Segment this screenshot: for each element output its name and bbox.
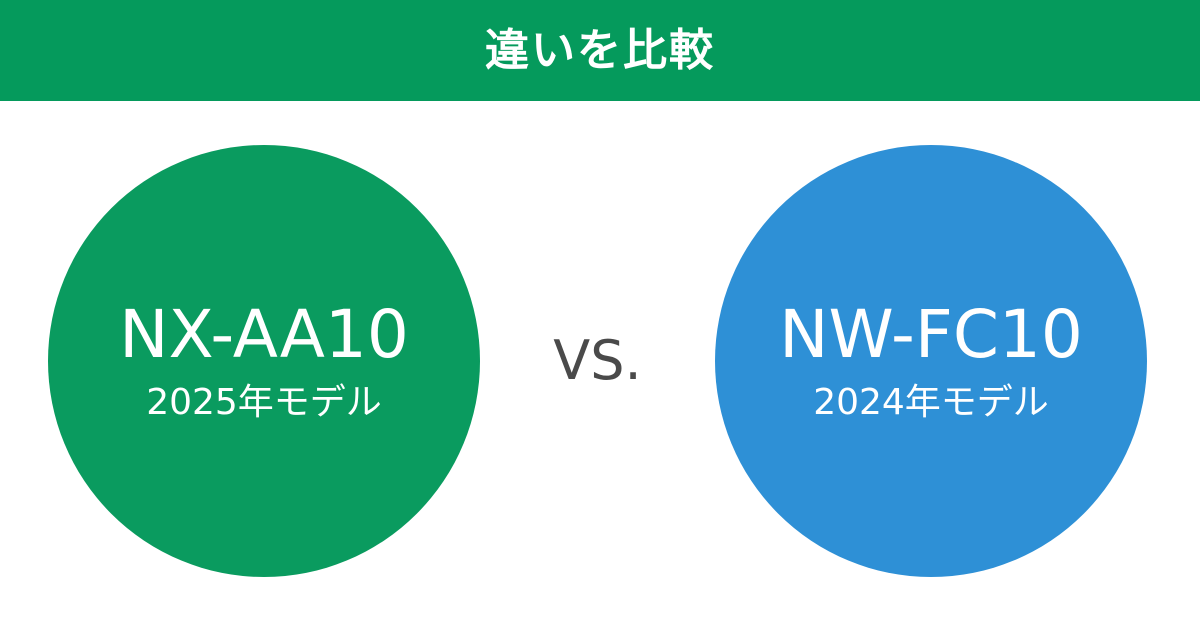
header-banner: 違いを比較	[0, 0, 1200, 101]
product-year-label-right: 2024年モデル	[813, 383, 1049, 423]
product-circle-left[interactable]: NX-AA10 2025年モデル	[48, 145, 480, 577]
product-circle-right[interactable]: NW-FC10 2024年モデル	[715, 145, 1147, 577]
page-title: 違いを比較	[485, 29, 715, 73]
versus-separator: VS.	[480, 145, 715, 577]
product-year-label-left: 2025年モデル	[146, 383, 382, 423]
comparison-poster: 違いを比較 NX-AA10 2025年モデル VS. NW-FC10 2024年…	[0, 0, 1200, 630]
comparison-stage: NX-AA10 2025年モデル VS. NW-FC10 2024年モデル	[0, 101, 1200, 630]
product-model-name-left: NX-AA10	[119, 300, 409, 369]
product-model-name-right: NW-FC10	[779, 300, 1083, 369]
